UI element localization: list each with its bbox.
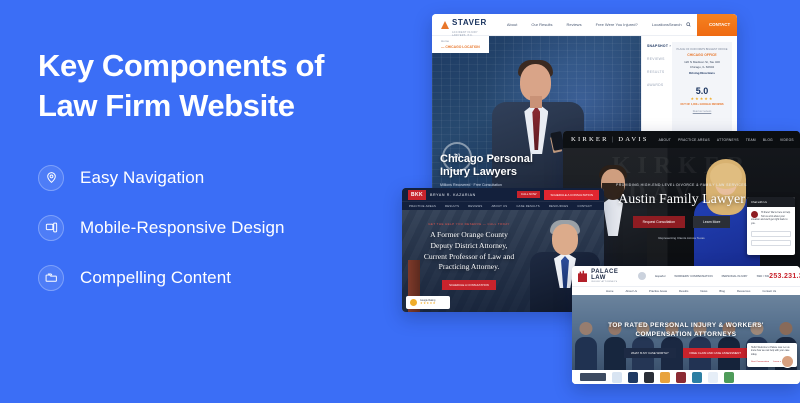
palace-nav-item-6[interactable]: Resources	[737, 289, 750, 293]
kazarian-hero-text: GET THE HELP YOU DESERVE — CALL TODAY A …	[410, 222, 528, 291]
kazarian-nav-item-4[interactable]: CASE RESULTS	[516, 204, 540, 208]
palace-hero-heading: TOP RATED PERSONAL INJURY & WORKERS' COM…	[572, 321, 800, 341]
staver-rating-link[interactable]: Read our reviews	[676, 110, 728, 113]
staver-nav-item-1[interactable]: Our Results	[531, 22, 552, 27]
page-title-line-1: Key Components of	[38, 46, 398, 86]
palace-free-assessment-button[interactable]: FREE CLAIM AND CASE ASSESSMENT	[683, 348, 748, 358]
kazarian-hero-heading-line-2: Deputy District Attorney,	[431, 241, 508, 250]
kirker-request-consultation-button[interactable]: Request Consultation	[633, 216, 685, 228]
kirker-nav-item-4[interactable]: BLOG	[763, 138, 773, 142]
feature-item-mobile-responsive-design: Mobile-Responsive Design	[38, 211, 398, 245]
palace-nav-item-7[interactable]: Contact Us	[762, 289, 776, 293]
palace-nav-item-3[interactable]: Results	[679, 289, 688, 293]
staver-search[interactable]: Search	[669, 22, 697, 27]
palace-badge-ribbon-icon	[580, 373, 606, 381]
palace-nav-item-0[interactable]: Home	[606, 289, 613, 293]
feature-label-easy-navigation: Easy Navigation	[80, 168, 204, 188]
palace-hero: TOP RATED PERSONAL INJURY & WORKERS' COM…	[572, 295, 800, 370]
kirker-nav: ABOUT PRACTICE AREAS ATTORNEYS TEAM BLOG…	[659, 138, 800, 142]
palace-nav-item-2[interactable]: Practice Areas	[649, 289, 667, 293]
kirker-brand-divider-icon: |	[612, 136, 616, 143]
palace-hero-heading-line-2: COMPENSATION ATTORNEYS	[636, 331, 737, 338]
kazarian-logo-mark[interactable]: BKK	[408, 190, 426, 200]
kazarian-hero-heading-line-1: A Former Orange County	[430, 230, 508, 239]
feature-list: Easy Navigation Mobile-Responsive Design…	[38, 161, 398, 295]
palace-body: PALACE LAW INJURY ATTORNEYS Español WORK…	[572, 266, 800, 384]
kirker-brand-first: KIRKER	[571, 136, 609, 143]
kirker-brand-second: DAVIS	[618, 136, 648, 143]
staver-search-label: Search	[669, 22, 682, 27]
palace-main-nav: Home About Us Practice Areas Results New…	[572, 286, 800, 295]
palace-badge-icon-8	[724, 372, 734, 383]
staver-rating-stars-icon: ★★★★★	[676, 96, 728, 101]
staver-rail-tab-results[interactable]: RESULTS	[647, 70, 672, 74]
staver-contact-button[interactable]: CONTACT	[697, 14, 737, 36]
staver-rail-tab-snapshot[interactable]: SNAPSHOT	[647, 44, 672, 48]
page-title: Key Components of Law Firm Website	[38, 46, 398, 127]
responsive-device-icon	[38, 215, 64, 241]
palace-lang-avatar-icon	[638, 272, 646, 280]
palace-top-nav: Español WORKERS' COMPENSATION PERSONAL I…	[638, 272, 769, 280]
kazarian-hero-cta-button[interactable]: SCHEDULE A CONSULTATION	[442, 280, 496, 290]
palace-top-nav-item-3[interactable]: SSD / SSI	[757, 274, 770, 278]
google-icon	[410, 299, 417, 306]
staver-rating-caption: OUT OF 1,000+ GOOGLE REVIEWS	[676, 103, 728, 106]
palace-badge-icon-3	[644, 372, 654, 383]
kazarian-hero-heading: A Former Orange County Deputy District A…	[410, 230, 528, 273]
staver-breadcrumb-current: CHICAGO LOCATION	[441, 45, 480, 49]
palace-crest-icon	[578, 270, 587, 282]
page-title-line-2: Law Firm Website	[38, 86, 398, 126]
palace-top-nav-item-0[interactable]: Español	[655, 274, 665, 278]
kirker-chat-widget[interactable]: Chat with Us Hi there! We're here to hel…	[747, 197, 795, 255]
staver-office-address-line-2: Chicago, IL 60602	[676, 65, 728, 70]
kirker-nav-item-2[interactable]: ATTORNEYS	[717, 138, 739, 142]
staver-rail-tab-awards[interactable]: AWARDS	[647, 83, 672, 87]
staver-office-label: PLACE OF OUR FIRM'S BIGGEST OFFICE	[676, 48, 728, 51]
palace-badge-icon-7	[708, 372, 718, 383]
palace-top-nav-item-2[interactable]: PERSONAL INJURY	[722, 274, 748, 278]
palace-nav-item-4[interactable]: News	[700, 289, 707, 293]
palace-badge-icon-4	[660, 372, 670, 383]
staver-rating-number: 5.0	[676, 86, 728, 96]
kazarian-brand-name: BRYAN R. KAZARIAN	[430, 193, 476, 197]
palace-nav-item-5[interactable]: Blog	[719, 289, 725, 293]
palace-brand-text: PALACE LAW	[591, 269, 618, 281]
palace-logo[interactable]: PALACE LAW INJURY ATTORNEYS	[578, 269, 622, 283]
kazarian-nav-item-2[interactable]: REVIEWS	[468, 204, 482, 208]
kirker-hero-eyebrow: PROVIDING HIGH-END LEVEL DIVORCE & FAMIL…	[563, 183, 800, 187]
staver-breadcrumb: Home CHICAGO LOCATION	[432, 36, 489, 53]
kazarian-nav-item-0[interactable]: PRACTICE AREAS	[409, 204, 436, 208]
staver-nav-item-4[interactable]: Locations	[652, 22, 669, 27]
kirker-chat-header: Chat with Us	[747, 197, 795, 207]
kazarian-review-stars-icon: ★★★★★	[420, 301, 436, 305]
staver-hero-heading-line-1: Chicago Personal	[440, 153, 580, 166]
website-screenshot-palace-law[interactable]: PALACE LAW INJURY ATTORNEYS Español WORK…	[572, 266, 800, 384]
feature-label-compelling-content: Compelling Content	[80, 268, 231, 288]
staver-rating-block: 5.0 ★★★★★ OUT OF 1,000+ GOOGLE REVIEWS R…	[676, 86, 728, 113]
palace-case-worth-button[interactable]: WHAT IS MY CASE WORTH?	[624, 348, 676, 358]
palace-start-conversation-link[interactable]: Start Conversation	[751, 361, 769, 363]
staver-logo-mark-icon	[441, 21, 449, 29]
palace-brand-tagline: INJURY ATTORNEYS	[591, 281, 622, 283]
staver-logo[interactable]: STAVER ACCIDENT INJURY LAWYERS, P.C.	[441, 14, 487, 37]
staver-breadcrumb-home[interactable]: Home	[441, 39, 480, 43]
feature-label-mobile-responsive-design: Mobile-Responsive Design	[80, 218, 285, 238]
kazarian-nav-item-3[interactable]: ABOUT US	[491, 204, 507, 208]
staver-hero-subtext: Millions Recovered · Free Consultation	[440, 183, 580, 187]
kazarian-call-label: CALL NOW	[521, 192, 537, 196]
map-pin-icon	[38, 165, 64, 191]
staver-rail-tab-reviews[interactable]: REVIEWS	[647, 57, 672, 61]
palace-badge-icon-6	[692, 372, 702, 383]
kirker-chat-body: Hi there! We're here to help. Tell us a …	[747, 207, 795, 250]
palace-badge-icon-5	[676, 372, 686, 383]
palace-badge-icon-2	[628, 372, 638, 383]
staver-hero-heading-line-2: Injury Lawyers	[440, 166, 580, 179]
palace-brand-name: PALACE LAW INJURY ATTORNEYS	[591, 269, 622, 283]
palace-phone-number[interactable]: 253.231.399	[769, 273, 800, 280]
search-icon	[686, 22, 691, 27]
kirker-brand-logo[interactable]: KIRKER|DAVIS	[571, 136, 649, 143]
kirker-nav-item-0[interactable]: ABOUT	[659, 138, 671, 142]
hero-copy-block: Key Components of Law Firm Website Easy …	[38, 46, 398, 311]
kirker-chat-name-input[interactable]	[751, 231, 791, 237]
kirker-learn-more-button[interactable]: Learn More	[693, 216, 730, 228]
palace-header: PALACE LAW INJURY ATTORNEYS Español WORK…	[572, 266, 800, 286]
kirker-nav-item-5[interactable]: VIDEOS	[780, 138, 794, 142]
kirker-nav-item-3[interactable]: TEAM	[746, 138, 756, 142]
staver-hero-text: Chicago Personal Injury Lawyers Millions…	[440, 153, 580, 187]
feature-item-compelling-content: Compelling Content	[38, 261, 398, 295]
kirker-nav-item-1[interactable]: PRACTICE AREAS	[678, 138, 710, 142]
staver-nav: About Our Results Reviews Free Were You …	[507, 22, 669, 27]
palace-badge-icon-1	[612, 372, 622, 383]
staver-nav-item-3[interactable]: Free Were You Injured?	[596, 22, 638, 27]
palace-nav-item-1[interactable]: About Us	[625, 289, 637, 293]
kirker-chat-send-button[interactable]	[751, 240, 791, 246]
palace-top-nav-item-1[interactable]: WORKERS' COMPENSATION	[674, 274, 712, 278]
folder-copy-icon	[38, 265, 64, 291]
kazarian-hero-heading-line-3: Current Professor of Law and	[424, 252, 514, 261]
staver-office-directions-link[interactable]: Driving Directions	[676, 71, 728, 75]
staver-header: STAVER ACCIDENT INJURY LAWYERS, P.C. Abo…	[432, 14, 737, 36]
staver-brand-name: STAVER	[452, 18, 487, 27]
kazarian-review-widget[interactable]: Google Rating ★★★★★	[406, 296, 450, 309]
staver-office-name: CHICAGO OFFICE	[676, 53, 728, 57]
feature-item-easy-navigation: Easy Navigation	[38, 161, 398, 195]
staver-nav-item-0[interactable]: About	[507, 22, 517, 27]
kirker-header: KIRKER|DAVIS ABOUT PRACTICE AREAS ATTORN…	[563, 131, 800, 148]
palace-award-badges	[572, 370, 800, 384]
kazarian-call-button[interactable]: CALL NOW	[517, 191, 541, 199]
kirker-chat-avatar	[751, 211, 758, 218]
kazarian-nav-item-1[interactable]: RESULTS	[445, 204, 459, 208]
kazarian-hero-heading-line-4: Practicing Attorney.	[439, 262, 500, 271]
kazarian-hero-eyebrow: GET THE HELP YOU DESERVE — CALL TODAY	[410, 222, 528, 226]
palace-hero-heading-line-1: TOP RATED PERSONAL INJURY & WORKERS'	[608, 322, 764, 329]
palace-chat-avatar[interactable]	[781, 355, 794, 368]
staver-nav-item-2[interactable]: Reviews	[566, 22, 581, 27]
